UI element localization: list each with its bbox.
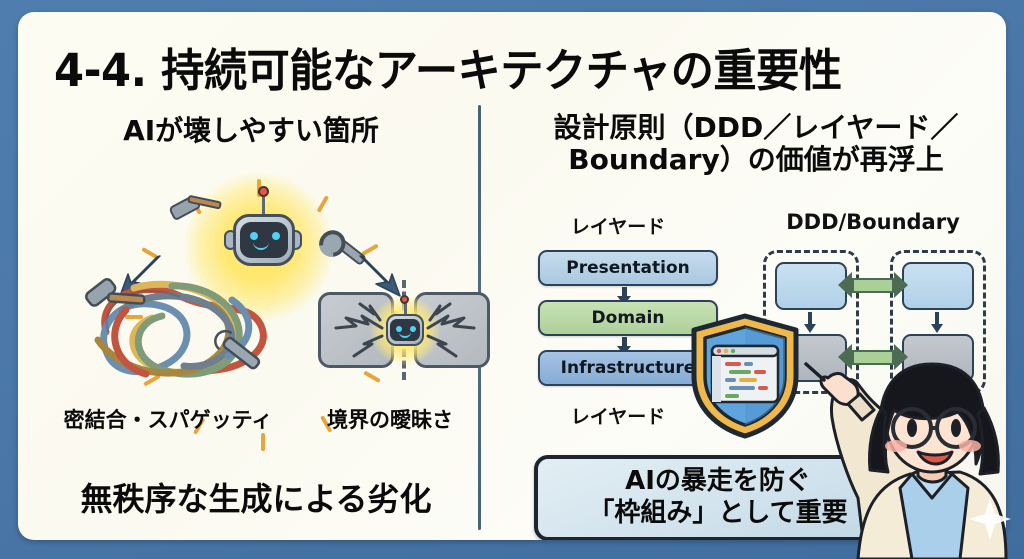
right-heading-line2: Boundary）の価値が再浮上 [496,144,1006,176]
layered-title: レイヤード [518,212,718,239]
left-footer-text: 無秩序な生成による劣化 [36,474,476,520]
ddd-boundary-title: DDD/Boundary [753,210,993,234]
label-vague-boundary: 境界の曖昧さ [290,404,490,434]
robot-antenna-ball [258,186,269,197]
tangled-wires-icon [76,270,286,390]
boundary-robot-antenna-ball [400,295,409,304]
pointing-woman-character [800,348,1024,559]
label-tight-coupling: 密結合・スパゲッティ [43,404,293,434]
ddd-box-left-top [775,262,847,310]
ddd-arrow-down-left-icon [808,312,812,325]
layer-box-presentation: Presentation [538,250,718,286]
right-column-heading: 設計原則（DDD／レイヤード／ Boundary）の価値が再浮上 [496,112,1006,176]
ddd-arrow-down-right-icon [935,312,939,325]
ddd-box-right-top [902,262,974,310]
callout-line1: AIの暴走を防ぐ [625,466,811,498]
layer-arrow-down-icon-2 [622,337,627,347]
left-illustration [36,162,476,402]
robot-antenna-rod [262,195,265,215]
ddd-double-arrow-top-icon [852,278,894,293]
right-heading-line1: 設計原則（DDD／レイヤード／ [496,112,1006,144]
shield-with-code-icon [686,312,804,440]
page-title: 4-4. 持続可能なアーキテクチャの重要性 [54,34,842,99]
robot-eye-left [250,232,258,240]
robot-eye-right [272,232,280,240]
robot-face [240,222,288,258]
slide-root: 4-4. 持続可能なアーキテクチャの重要性 AIが壊しやすい箇所 [0,0,1024,559]
left-column-heading: AIが壊しやすい箇所 [36,115,466,147]
layer-arrow-down-icon [622,287,627,297]
